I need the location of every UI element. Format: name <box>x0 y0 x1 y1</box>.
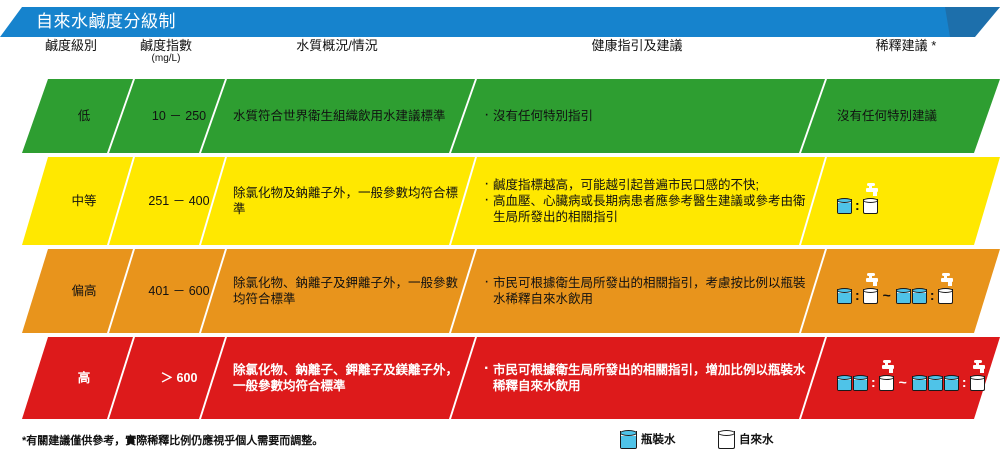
tap-water-cup-icon <box>879 373 894 391</box>
level-label: 低 <box>35 108 133 124</box>
bottled-water-cup-icon <box>928 373 943 391</box>
level-label: 中等 <box>35 193 133 209</box>
cell-level: 中等 <box>35 157 133 245</box>
water-quality-text: 除氯化物、鈉離子、鉀離子及鎂離子外，一般參數均符合標準 <box>233 362 467 394</box>
banner-arrow-tip-icon <box>945 7 1000 37</box>
tap-water-cup-icon <box>863 196 878 214</box>
faucet-icon <box>880 360 896 374</box>
faucet-down <box>873 281 877 286</box>
dilution-ratio-icons: :~: <box>837 286 953 304</box>
column-header-1: 鹹度級別 <box>22 38 120 54</box>
cell-level: 高 <box>35 337 133 419</box>
grading-row-red: 高＞ 600除氯化物、鈉離子、鉀離子及鎂離子外，一般參數均符合標準市民可根據衛生… <box>0 337 1000 419</box>
cup-water-fill <box>929 380 942 390</box>
bottled-water-cup-icon <box>837 373 852 391</box>
cup-rim <box>928 375 943 380</box>
grading-row-yellow: 中等251 － 400除氯化物及鈉離子外，一般參數均符合標準鹹度指標越高，可能越… <box>0 157 1000 245</box>
level-label: 偏高 <box>35 283 133 299</box>
cup-water-fill <box>913 293 926 303</box>
cup-water-fill <box>913 380 926 390</box>
cup-rim <box>853 375 868 380</box>
grading-row-green: 低10 － 250水質符合世界衛生組織飲用水建議標準沒有任何特別指引沒有任何特別… <box>0 79 1000 153</box>
bottled-water-cup-icon <box>837 286 852 304</box>
cup-rim <box>879 375 894 380</box>
cell-dilution-advice: :~: <box>837 337 1000 419</box>
column-header-label: 鹹度級別 <box>45 38 97 53</box>
cell-dilution-advice: :~: <box>837 249 1000 333</box>
tap-water-cup-icon <box>718 428 735 449</box>
footnote: *有關建議僅供參考，實際稀釋比例仍應視乎個人需要而調整。 <box>22 432 323 448</box>
legend-item-bottled: 瓶裝水 <box>620 428 676 449</box>
legend-item-tap: 自來水 <box>718 428 774 449</box>
health-advice-item: 市民可根據衛生局所發出的相關指引，考慮按比例以瓶裝水稀釋自來水飲用 <box>483 275 817 307</box>
legend-label: 自來水 <box>739 431 774 447</box>
ratio-colon: : <box>853 196 862 214</box>
health-advice-item: 高血壓、心臟病或長期病患者應參考醫生建議或參考由衛生局所發出的相關指引 <box>483 193 817 225</box>
cup-rim <box>837 375 852 380</box>
health-advice-list: 市民可根據衛生局所發出的相關指引，增加比例以瓶裝水稀釋自來水飲用 <box>483 362 817 394</box>
cup-rim <box>912 288 927 293</box>
cell-water-quality: 除氯化物及鈉離子外，一般參數均符合標準 <box>233 157 467 245</box>
cup-rim <box>944 375 959 380</box>
cup-rim <box>837 288 852 293</box>
bottled-water-cup-icon <box>853 373 868 391</box>
cup-water-fill <box>897 293 910 303</box>
cup-water-fill <box>854 380 867 390</box>
grading-row-orange: 偏高401 － 600除氯化物、鈉離子及鉀離子外，一般參數均符合標準市民可根據衛… <box>0 249 1000 333</box>
faucet-down <box>873 191 877 196</box>
cell-health-advice: 市民可根據衛生局所發出的相關指引，考慮按比例以瓶裝水稀釋自來水飲用 <box>483 249 817 333</box>
cup-rim <box>970 375 985 380</box>
column-header-row: 鹹度級別鹹度指數(mg/L)水質概況/情況健康指引及建議稀釋建議 * <box>0 38 1000 76</box>
cell-water-quality: 除氯化物、鈉離子及鉀離子外，一般參數均符合標準 <box>233 249 467 333</box>
health-advice-item: 沒有任何特別指引 <box>483 108 593 124</box>
column-header-unit: (mg/L) <box>120 53 212 64</box>
cell-health-advice: 沒有任何特別指引 <box>483 79 817 153</box>
cup-water-fill <box>838 380 851 390</box>
salinity-index-value: 251 － 400 <box>133 193 225 209</box>
faucet-down <box>948 281 952 286</box>
salinity-index-value: 401 － 600 <box>133 283 225 299</box>
range-tilde: ~ <box>879 286 895 304</box>
water-quality-text: 水質符合世界衛生組織飲用水建議標準 <box>233 108 446 124</box>
cell-salinity-index: 10 － 250 <box>133 79 225 153</box>
column-header-label: 鹹度指數 <box>140 38 192 53</box>
bottled-water-cup-icon <box>837 196 852 214</box>
water-quality-text: 除氯化物及鈉離子外，一般參數均符合標準 <box>233 185 467 217</box>
cell-salinity-index: ＞ 600 <box>133 337 225 419</box>
cell-health-advice: 市民可根據衛生局所發出的相關指引，增加比例以瓶裝水稀釋自來水飲用 <box>483 337 817 419</box>
cell-water-quality: 水質符合世界衛生組織飲用水建議標準 <box>233 79 467 153</box>
cup-rim <box>912 375 927 380</box>
health-advice-list: 鹹度指標越高，可能越引起普遍市民口感的不快;高血壓、心臟病或長期病患者應參考醫生… <box>483 177 817 225</box>
dilution-advice-text: 沒有任何特別建議 <box>837 108 937 124</box>
range-tilde: ~ <box>895 373 911 391</box>
bottled-water-cup-icon <box>944 373 959 391</box>
cup-rim <box>718 430 735 436</box>
health-advice-item: 鹹度指標越高，可能越引起普遍市民口感的不快; <box>483 177 817 193</box>
cup-rim <box>863 288 878 293</box>
cell-salinity-index: 401 － 600 <box>133 249 225 333</box>
ratio-colon: : <box>960 373 969 391</box>
cell-water-quality: 除氯化物、鈉離子、鉀離子及鎂離子外，一般參數均符合標準 <box>233 337 467 419</box>
cell-dilution-advice: : <box>837 157 1000 245</box>
cup-rim <box>620 430 637 436</box>
column-header-label: 健康指引及建議 <box>591 38 682 53</box>
column-header-4: 健康指引及建議 <box>462 38 812 54</box>
legend-label: 瓶裝水 <box>641 431 676 447</box>
faucet-down <box>889 368 893 373</box>
column-header-label: 稀釋建議 * <box>876 38 937 53</box>
bottled-water-cup-icon <box>912 373 927 391</box>
column-header-3: 水質概況/情況 <box>212 38 462 54</box>
cup-rim <box>863 198 878 203</box>
faucet-icon <box>939 273 955 287</box>
cell-dilution-advice: 沒有任何特別建議 <box>837 79 1000 153</box>
cup-rim <box>938 288 953 293</box>
faucet-icon <box>971 360 987 374</box>
cup-rim <box>837 198 852 203</box>
dilution-ratio-icons: : <box>837 196 878 214</box>
page-title: 自來水鹹度分級制 <box>36 9 176 35</box>
cup-water-fill <box>945 380 958 390</box>
column-header-label: 水質概況/情況 <box>296 38 378 53</box>
tap-water-cup-icon <box>863 286 878 304</box>
bottled-water-cup-icon <box>912 286 927 304</box>
faucet-down <box>980 368 984 373</box>
salinity-index-value: 10 － 250 <box>133 108 225 124</box>
cup-water-fill <box>838 293 851 303</box>
column-header-2: 鹹度指數(mg/L) <box>120 38 212 64</box>
faucet-icon <box>864 183 880 197</box>
ratio-colon: : <box>869 373 878 391</box>
health-advice-list: 市民可根據衛生局所發出的相關指引，考慮按比例以瓶裝水稀釋自來水飲用 <box>483 275 817 307</box>
tap-water-cup-icon <box>970 373 985 391</box>
bottled-water-cup-icon <box>896 286 911 304</box>
salinity-index-value: ＞ 600 <box>133 370 225 386</box>
cell-level: 低 <box>35 79 133 153</box>
level-label: 高 <box>35 370 133 386</box>
cell-health-advice: 鹹度指標越高，可能越引起普遍市民口感的不快;高血壓、心臟病或長期病患者應參考醫生… <box>483 157 817 245</box>
cell-level: 偏高 <box>35 249 133 333</box>
bottled-water-cup-icon <box>620 428 637 449</box>
cup-water-fill <box>621 436 636 448</box>
tap-water-cup-icon <box>938 286 953 304</box>
faucet-icon <box>864 273 880 287</box>
ratio-colon: : <box>928 286 937 304</box>
cup-rim <box>896 288 911 293</box>
dilution-ratio-icons: :~: <box>837 373 985 391</box>
title-banner: 自來水鹹度分級制 <box>0 7 1000 37</box>
salinity-grading-infographic: 自來水鹹度分級制 鹹度級別鹹度指數(mg/L)水質概況/情況健康指引及建議稀釋建… <box>0 0 1000 465</box>
water-quality-text: 除氯化物、鈉離子及鉀離子外，一般參數均符合標準 <box>233 275 467 307</box>
cell-salinity-index: 251 － 400 <box>133 157 225 245</box>
health-advice-list: 沒有任何特別指引 <box>483 108 593 124</box>
column-header-5: 稀釋建議 * <box>812 38 1000 54</box>
cup-water-fill <box>838 203 851 213</box>
ratio-colon: : <box>853 286 862 304</box>
health-advice-item: 市民可根據衛生局所發出的相關指引，增加比例以瓶裝水稀釋自來水飲用 <box>483 362 817 394</box>
